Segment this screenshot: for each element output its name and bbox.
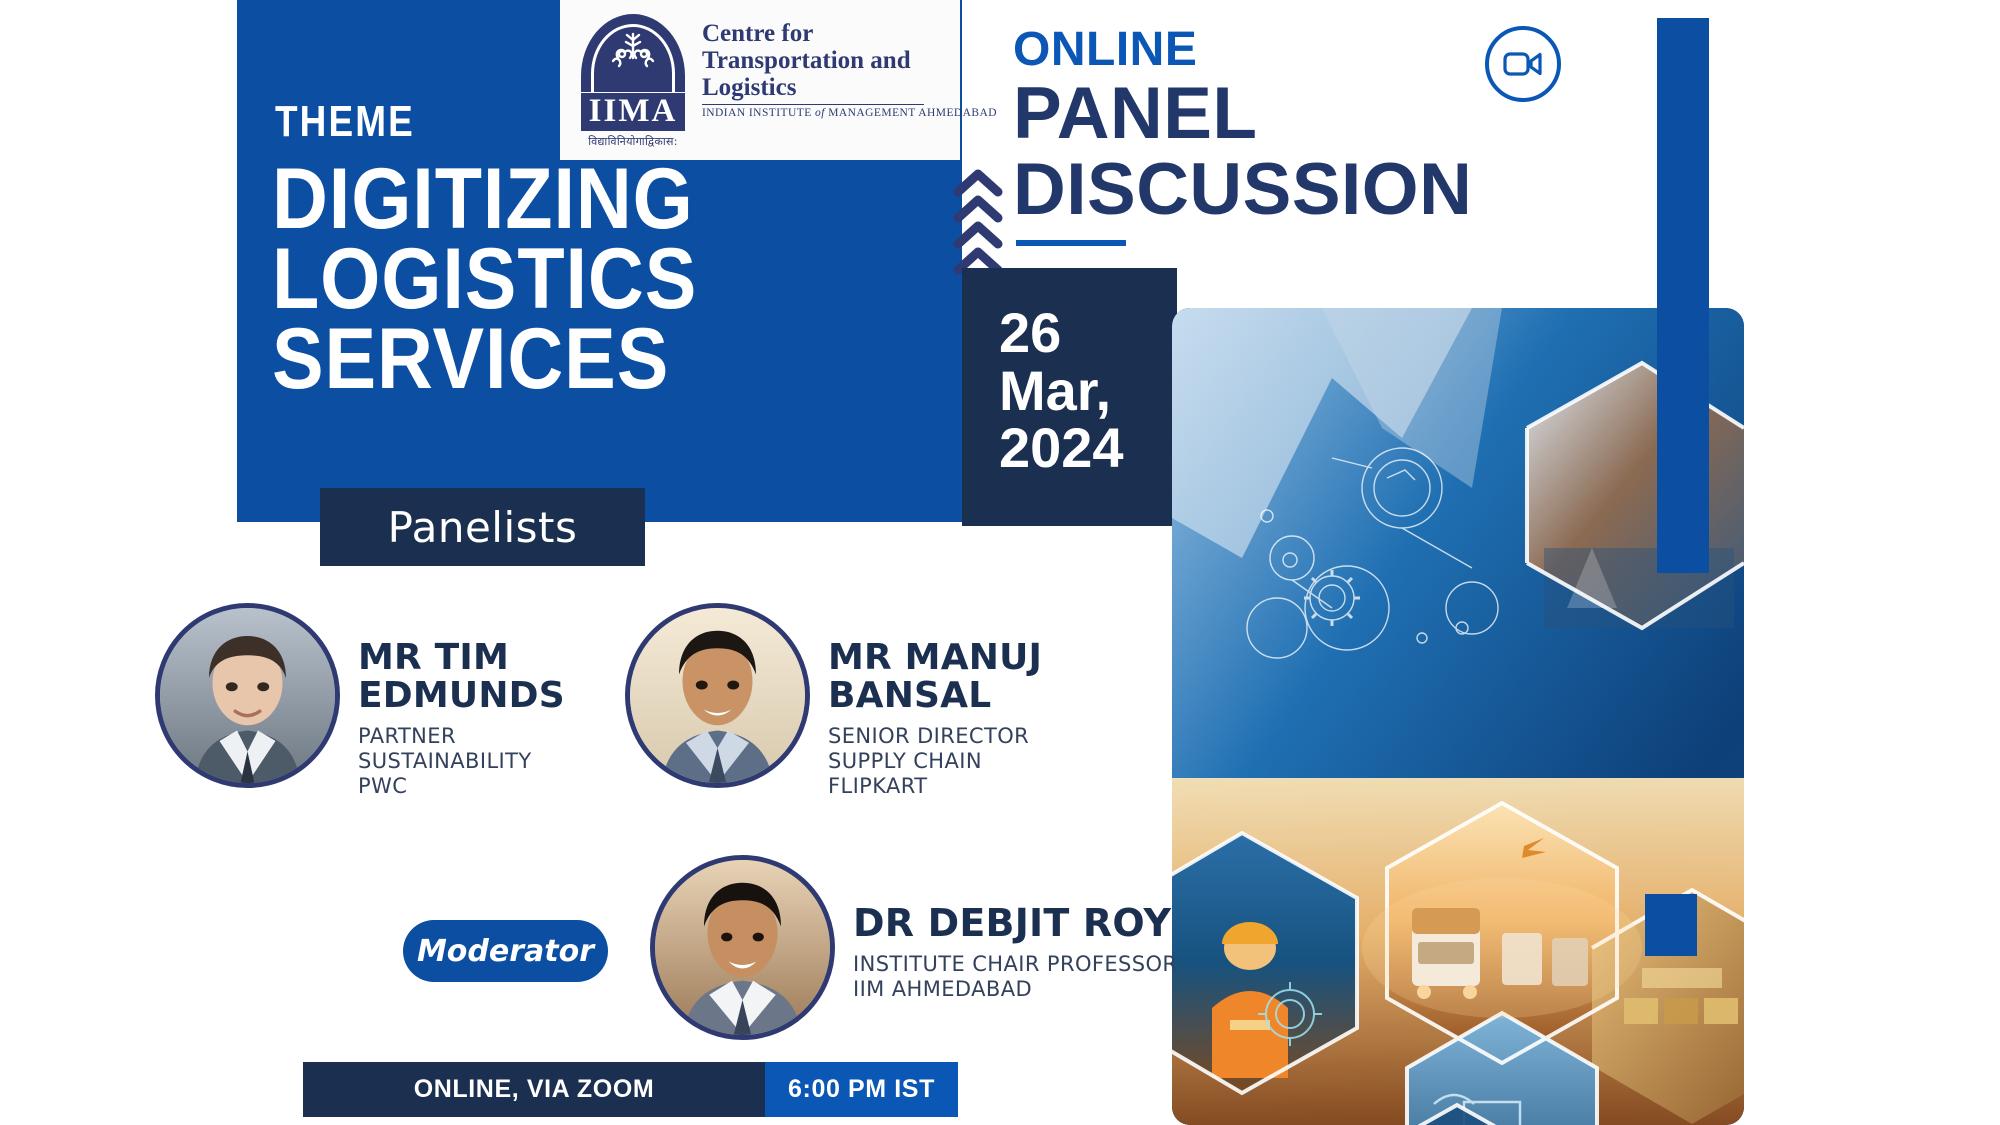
- iima-wordmark: IIMA: [581, 93, 686, 131]
- speaker-name-line-1: MR MANUJ: [828, 639, 1042, 677]
- chevron-stack-decoration: [952, 168, 1008, 276]
- avatar: [650, 855, 835, 1040]
- speaker-role-line-3: FLIPKART: [828, 774, 1042, 799]
- portrait-debjit-roy: [655, 860, 830, 1035]
- speaker-card-tim-edmunds: MR TIM EDMUNDS PARTNER SUSTAINABILITY PW…: [155, 603, 565, 799]
- header-panel: PANEL: [1013, 76, 1472, 152]
- date-day: 26: [999, 304, 1124, 362]
- speaker-card-manuj-bansal: MR MANUJ BANSAL SENIOR DIRECTOR SUPPLY C…: [625, 603, 1042, 799]
- sanskrit-motto: विद्याविनियोगाद्विकास:: [588, 134, 678, 149]
- header-underline: [1016, 240, 1126, 246]
- theme-kicker: THEME: [275, 97, 415, 147]
- speaker-role: INSTITUTE CHAIR PROFESSOR IIM AHMEDABAD: [853, 952, 1177, 1002]
- footer-bar: ONLINE, VIA ZOOM 6:00 PM IST: [303, 1062, 958, 1117]
- logo-name-line-1: Centre for: [702, 20, 997, 47]
- speaker-name: MR TIM EDMUNDS: [358, 639, 565, 715]
- theme-title-line-3: SERVICES: [272, 320, 884, 400]
- header-discussion: DISCUSSION: [1013, 152, 1472, 228]
- logo-name-line-2: Transportation and: [702, 47, 997, 74]
- iima-arch-icon: [581, 14, 685, 92]
- footer-time-block: 6:00 PM IST: [765, 1062, 958, 1117]
- logo-name-line-3: Logistics: [702, 74, 997, 101]
- portrait-tim-edmunds: [160, 608, 335, 783]
- iima-logo-mark: IIMA विद्याविनियोगाद्विकास:: [574, 14, 692, 149]
- event-date-box: 26 Mar, 2024: [962, 268, 1177, 526]
- footer-time: 6:00 PM IST: [788, 1075, 935, 1104]
- speaker-role-line-3: PWC: [358, 774, 565, 799]
- speaker-role: PARTNER SUSTAINABILITY PWC: [358, 724, 565, 798]
- date-month: Mar,: [999, 362, 1124, 420]
- speaker-name-line-1: DR DEBJIT ROY: [853, 903, 1177, 943]
- speaker-role-line-2: SUPPLY CHAIN: [828, 749, 1042, 774]
- speaker-role-line-2: IIM AHMEDABAD: [853, 977, 1177, 1002]
- institution-suffix: MANAGEMENT AHMEDABAD: [825, 107, 997, 119]
- institution-prefix: INDIAN INSTITUTE: [702, 107, 815, 119]
- event-poster: THEME DIGITIZING LOGISTICS SERVICES: [0, 0, 2000, 1125]
- speaker-name-line-1: MR TIM: [358, 639, 565, 677]
- header-online: ONLINE: [1013, 26, 1472, 74]
- logo-institution-line: INDIAN INSTITUTE of MANAGEMENT AHMEDABAD: [702, 107, 997, 119]
- blue-bar-tall-decoration: [1657, 18, 1709, 573]
- iima-ctl-logo-card: IIMA विद्याविनियोगाद्विकास: Centre for T…: [560, 0, 960, 160]
- speaker-role-line-2: SUSTAINABILITY: [358, 749, 565, 774]
- logo-divider: [702, 104, 924, 105]
- panelists-label-box: Panelists: [320, 488, 645, 566]
- date-year: 2024: [999, 419, 1124, 477]
- speaker-name: MR MANUJ BANSAL: [828, 639, 1042, 715]
- moderator-label: Moderator: [417, 934, 594, 969]
- institution-italic: of: [815, 107, 825, 119]
- theme-title-line-2: LOGISTICS: [272, 240, 884, 320]
- event-header: ONLINE PANEL DISCUSSION: [1013, 26, 1472, 228]
- theme-title-line-1: DIGITIZING: [272, 160, 884, 240]
- theme-title: DIGITIZING LOGISTICS SERVICES: [272, 160, 884, 400]
- video-camera-glyph: [1503, 50, 1543, 78]
- speaker-name-line-2: BANSAL: [828, 677, 1042, 715]
- footer-venue: ONLINE, VIA ZOOM: [414, 1075, 655, 1104]
- speaker-role: SENIOR DIRECTOR SUPPLY CHAIN FLIPKART: [828, 724, 1042, 798]
- portrait-manuj-bansal: [630, 608, 805, 783]
- speaker-name-line-2: EDMUNDS: [358, 677, 565, 715]
- speaker-card-debjit-roy: DR DEBJIT ROY INSTITUTE CHAIR PROFESSOR …: [650, 855, 1177, 1040]
- speaker-name: DR DEBJIT ROY: [853, 903, 1177, 943]
- speaker-role-line-1: INSTITUTE CHAIR PROFESSOR: [853, 952, 1177, 977]
- video-camera-icon: [1485, 26, 1561, 102]
- speaker-role-line-1: PARTNER: [358, 724, 565, 749]
- footer-venue-block: ONLINE, VIA ZOOM: [303, 1062, 765, 1117]
- event-date: 26 Mar, 2024: [999, 304, 1124, 477]
- banyan-tree-icon: [605, 28, 661, 84]
- avatar: [155, 603, 340, 788]
- avatar: [625, 603, 810, 788]
- blue-square-decoration: [1645, 894, 1697, 956]
- panelists-label: Panelists: [388, 503, 578, 552]
- speaker-role-line-1: SENIOR DIRECTOR: [828, 724, 1042, 749]
- moderator-badge: Moderator: [403, 920, 608, 982]
